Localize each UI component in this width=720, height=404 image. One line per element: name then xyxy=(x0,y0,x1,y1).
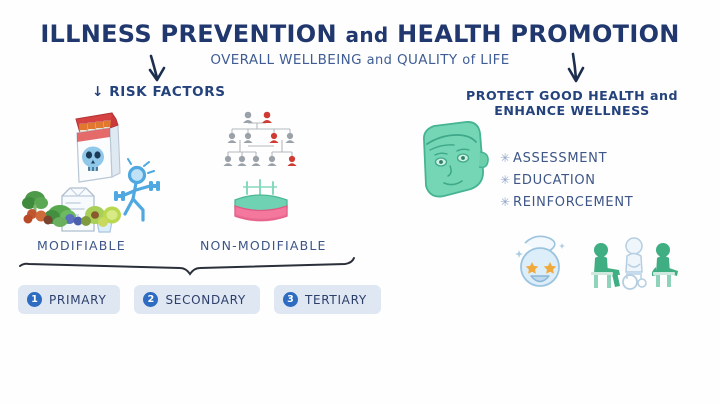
cigarette-pack-with-skull-icon xyxy=(76,113,120,182)
pill-secondary[interactable]: 2 SECONDARY xyxy=(134,285,259,314)
page-subtitle-part2: QUALITY xyxy=(392,52,462,68)
person-icon xyxy=(228,133,237,143)
birthday-cake-icon xyxy=(235,180,287,222)
milk-carton-icon xyxy=(62,188,113,232)
page-title-part1: ILLNESS PREVENTION xyxy=(40,20,345,48)
person-icon xyxy=(262,112,272,123)
person-icon xyxy=(238,156,247,166)
curly-brace-down xyxy=(20,258,354,274)
page-title: ILLNESS PREVENTION and HEALTH PROMOTION xyxy=(0,20,720,48)
green-sketched-face-icon xyxy=(424,122,488,197)
page-title-part2: HEALTH PROMOTION xyxy=(388,20,679,48)
dumbbell-icon xyxy=(114,181,160,201)
protect-health-heading: PROTECT GOOD HEALTH andENHANCE WELLNESS xyxy=(462,88,682,118)
person-icon xyxy=(252,156,261,166)
pill-tertiary[interactable]: 3 TERTIARY xyxy=(274,285,381,314)
page-subtitle-conjunction: and xyxy=(367,53,393,68)
bullet-label-assessment: ASSESSMENT xyxy=(513,151,607,166)
protect-health-heading-line2: ENHANCE WELLNESS xyxy=(494,103,649,118)
seated-people-group-icon xyxy=(591,238,678,289)
list-item: ✳ REINFORCEMENT xyxy=(500,191,633,213)
person-icon xyxy=(243,112,253,123)
illustration-canvas: ILLNESS PREVENTION and HEALTH PROMOTION … xyxy=(0,0,720,404)
risk-factors-heading: ↓ RISK FACTORS xyxy=(92,84,226,100)
star-eyed-happy-face-icon xyxy=(515,236,565,286)
asterisk-bullet-icon: ✳ xyxy=(500,152,513,164)
list-item: ✳ EDUCATION xyxy=(500,169,633,191)
page-subtitle: OVERALL WELLBEING and QUALITY of LIFE xyxy=(0,52,720,68)
page-subtitle-part3: LIFE xyxy=(476,52,510,68)
pill-number-icon: 1 xyxy=(27,292,42,307)
person-icon xyxy=(244,133,253,143)
person-icon xyxy=(270,133,279,143)
pill-label-secondary: SECONDARY xyxy=(165,293,245,307)
page-title-conjunction: and xyxy=(346,23,389,47)
pill-number-icon: 2 xyxy=(143,292,158,307)
prevention-levels-row: 1 PRIMARY 2 SECONDARY 3 TERTIARY xyxy=(18,285,381,314)
page-subtitle-part1: OVERALL WELLBEING xyxy=(210,52,366,68)
protect-health-heading-conjunction: and xyxy=(650,88,678,103)
page-subtitle-of: of xyxy=(462,53,475,68)
vegetables-and-fruits-icon xyxy=(22,191,121,227)
skull-icon xyxy=(82,147,104,172)
bullet-label-reinforcement: REINFORCEMENT xyxy=(513,195,633,210)
person-icon xyxy=(268,156,277,166)
bullet-label-education: EDUCATION xyxy=(513,173,596,188)
person-icon xyxy=(288,156,297,166)
seated-person-icon xyxy=(594,243,620,288)
seated-person-icon xyxy=(652,243,678,287)
running-person-with-dumbbells-icon xyxy=(122,159,154,220)
asterisk-bullet-icon: ✳ xyxy=(500,174,513,186)
seated-person-wheelchair-icon xyxy=(623,238,646,289)
family-pedigree-tree-icon xyxy=(224,112,297,166)
asterisk-bullet-icon: ✳ xyxy=(500,196,513,208)
person-icon xyxy=(286,133,295,143)
list-item: ✳ ASSESSMENT xyxy=(500,147,633,169)
pill-label-tertiary: TERTIARY xyxy=(305,293,367,307)
pill-number-icon: 3 xyxy=(283,292,298,307)
pill-label-primary: PRIMARY xyxy=(49,293,106,307)
category-label-non-modifiable: NON-MODIFIABLE xyxy=(200,238,327,253)
category-label-modifiable: MODIFIABLE xyxy=(37,238,126,253)
pill-primary[interactable]: 1 PRIMARY xyxy=(18,285,120,314)
wellness-actions-list: ✳ ASSESSMENT ✳ EDUCATION ✳ REINFORCEMENT xyxy=(500,147,633,213)
person-icon xyxy=(224,156,233,166)
protect-health-heading-line1: PROTECT GOOD HEALTH xyxy=(466,88,650,103)
